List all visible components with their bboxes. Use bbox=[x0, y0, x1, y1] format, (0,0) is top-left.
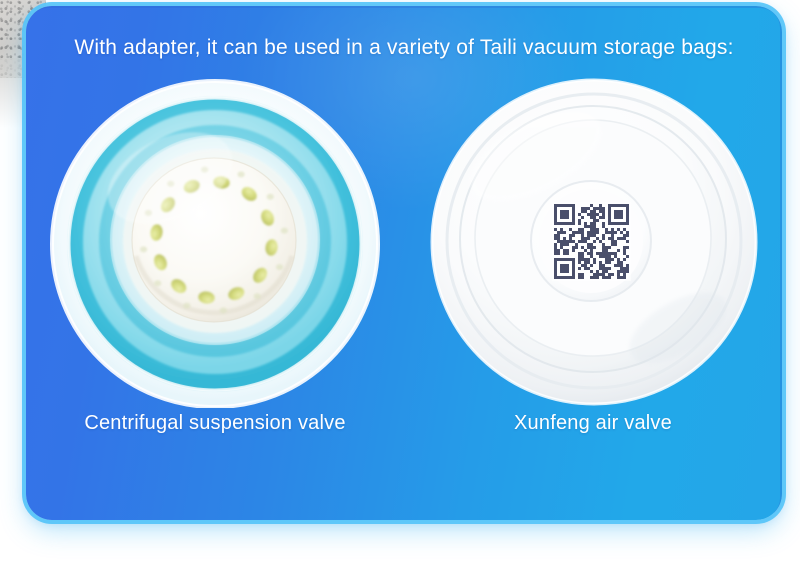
xunfeng-air-valve-photo bbox=[428, 78, 758, 408]
valve-item-xunfeng[interactable]: Xunfeng air valve bbox=[418, 78, 768, 435]
centrifugal-suspension-valve-photo bbox=[50, 78, 380, 408]
valve-caption-xunfeng: Xunfeng air valve bbox=[514, 412, 672, 435]
valve-gallery: Centrifugal suspension valve bbox=[26, 78, 782, 490]
valve-caption-centrifugal: Centrifugal suspension valve bbox=[84, 412, 345, 435]
promo-panel: With adapter, it can be used in a variet… bbox=[26, 6, 782, 520]
qr-code-icon bbox=[552, 202, 631, 281]
page-root: With adapter, it can be used in a variet… bbox=[0, 0, 800, 578]
valve-item-centrifugal[interactable]: Centrifugal suspension valve bbox=[40, 78, 390, 435]
page-title: With adapter, it can be used in a variet… bbox=[26, 36, 782, 60]
